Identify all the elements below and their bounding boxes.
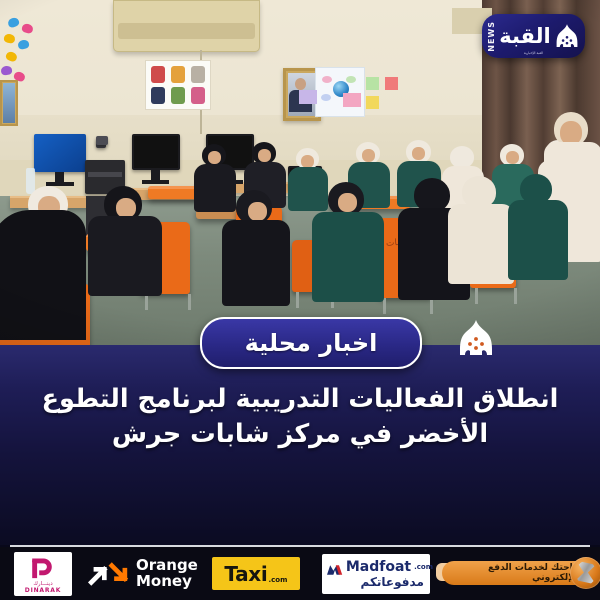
dome-icon <box>554 23 580 49</box>
sticky-note <box>366 77 379 90</box>
computer-monitor <box>34 134 86 172</box>
dinarak-mark-icon <box>28 557 56 581</box>
sponsor-logo-madfoat[interactable]: Madfoat .com مدفوعاتكم <box>322 554 430 594</box>
wall-poster <box>145 60 211 110</box>
headline-text: انطلاق الفعاليات التدريبية لبرنامج التطو… <box>14 382 586 452</box>
madfoat-label-ar: مدفوعاتكم <box>361 575 424 589</box>
sponsor-logo-orange-money[interactable]: Orange Money <box>88 558 198 589</box>
sponsor-logo-dinarak[interactable]: دينـــارك DINARAK <box>14 552 72 596</box>
orange-money-line2: Money <box>136 574 198 589</box>
framed-portrait <box>0 80 18 126</box>
dinarak-label-en: DINARAK <box>14 587 72 594</box>
category-badge[interactable]: اخبار محلية <box>200 317 422 369</box>
channel-logo[interactable]: NEWS القبة القبة الإخبارية <box>482 14 585 58</box>
taxi-label: Taxi <box>224 562 267 586</box>
sticky-note <box>299 90 317 104</box>
wall-poster-globe <box>315 67 365 117</box>
logo-subtitle: القبة الإخبارية <box>482 51 585 55</box>
epayment-orb-icon <box>570 557 600 589</box>
sponsor-logo-taxi[interactable]: Taxi .com <box>212 557 300 590</box>
dome-icon <box>455 318 497 358</box>
madfoat-label: Madfoat <box>346 560 411 574</box>
news-card: كلمات ( صلى اعتزنا بشي <box>0 0 600 600</box>
sticky-note <box>366 96 379 109</box>
small-monitor <box>96 136 108 145</box>
computer-monitor <box>132 134 180 170</box>
sponsor-bar: دينـــارك DINARAK Orange Money Taxi .com <box>0 547 600 600</box>
orange-money-arrows-icon <box>88 560 130 588</box>
logo-news-text: NEWS <box>487 21 496 52</box>
madfoat-suffix: .com <box>414 563 433 571</box>
category-badge-label: اخبار محلية <box>245 329 378 357</box>
epayment-tagline: راحتك لخدمات الدفع الإلكتروني <box>450 561 578 585</box>
sticky-note <box>385 77 398 90</box>
madfoat-mark-icon <box>327 561 343 573</box>
taxi-suffix: .com <box>268 576 287 584</box>
sponsor-epayment-banner[interactable]: راحتك لخدمات الدفع الإلكتروني <box>436 557 600 591</box>
logo-arabic-text: القبة <box>499 26 551 47</box>
sticky-note <box>343 93 361 107</box>
air-conditioner-icon <box>113 0 260 52</box>
